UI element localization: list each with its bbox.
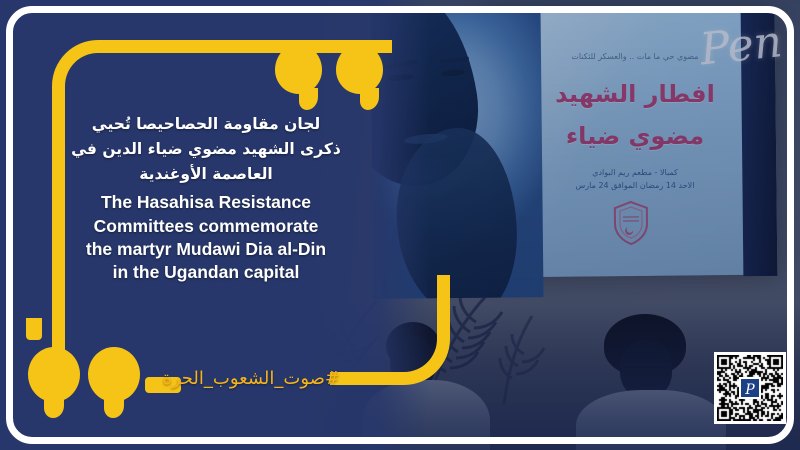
qr-code[interactable]: P — [714, 352, 786, 424]
headline-english-line-1: The Hasahisa Resistance — [36, 191, 376, 214]
quote-circle-2 — [88, 347, 140, 402]
quote-circle-1 — [28, 347, 80, 402]
qr-code-matrix[interactable]: P — [717, 355, 783, 421]
headline-block: لجان مقاومة الحصاحيصا تُحيي ذكرى الشهيد … — [36, 112, 376, 284]
headline-arabic-line-1: لجان مقاومة الحصاحيصا تُحيي — [36, 112, 376, 137]
quote-bubble-1 — [275, 44, 322, 94]
yellow-tick — [26, 318, 42, 340]
hashtag-label: #صوت_الشعوب_الحرة — [190, 368, 340, 389]
news-graphic-canvas: مضوي حي ما مات .. والعسكر للثكنات افطار … — [0, 0, 800, 450]
quote-bubble-2 — [336, 44, 383, 94]
headline-english-line-3: the martyr Mudawi Dia al-Din — [36, 238, 376, 261]
headline-english-block: The Hasahisa Resistance Committees comme… — [36, 191, 376, 284]
headline-english-line-4: in the Ugandan capital — [36, 261, 376, 284]
qr-center-logo: P — [739, 377, 761, 399]
headline-arabic-line-3: العاصمة الأوغندية — [36, 162, 376, 187]
headline-arabic-line-2: ذكرى الشهيد مضوي ضياء الدين في — [36, 137, 376, 162]
headline-english-line-2: Committees commemorate — [36, 215, 376, 238]
